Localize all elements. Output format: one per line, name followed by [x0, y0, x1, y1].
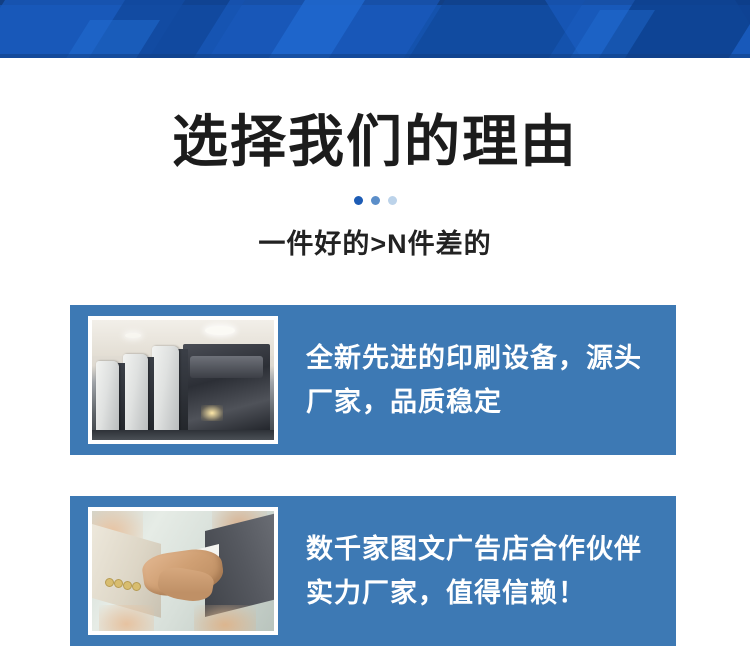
- feature-text-line: 全新先进的印刷设备，源头: [306, 336, 642, 380]
- top-banner: [0, 0, 750, 58]
- divider-dot-2: [371, 196, 380, 205]
- feature-card: 全新先进的印刷设备，源头 厂家，品质稳定: [70, 305, 676, 455]
- feature-text-line: 厂家，品质稳定: [306, 380, 642, 424]
- printing-press-illustration: [92, 320, 274, 440]
- divider-dot-3: [388, 196, 397, 205]
- feature-card-text: 数千家图文广告店合作伙伴 实力厂家，值得信赖！: [306, 527, 642, 615]
- handshake-illustration: [92, 511, 274, 631]
- banner-bottom-strip: [0, 54, 750, 58]
- page-title: 选择我们的理由: [0, 108, 750, 176]
- printing-press-photo: [88, 316, 278, 444]
- feature-card: 数千家图文广告店合作伙伴 实力厂家，值得信赖！: [70, 496, 676, 646]
- feature-card-text: 全新先进的印刷设备，源头 厂家，品质稳定: [306, 336, 642, 424]
- dot-divider: [0, 196, 750, 205]
- ceiling-lamp-icon: [205, 326, 235, 335]
- feature-text-line: 数千家图文广告店合作伙伴: [306, 527, 642, 571]
- handshake-photo: [88, 507, 278, 635]
- product-detail-page: 选择我们的理由 一件好的>N件差的: [0, 0, 750, 667]
- divider-dot-1: [354, 196, 363, 205]
- feature-text-line: 实力厂家，值得信赖！: [306, 571, 642, 615]
- page-subtitle: 一件好的>N件差的: [0, 226, 750, 262]
